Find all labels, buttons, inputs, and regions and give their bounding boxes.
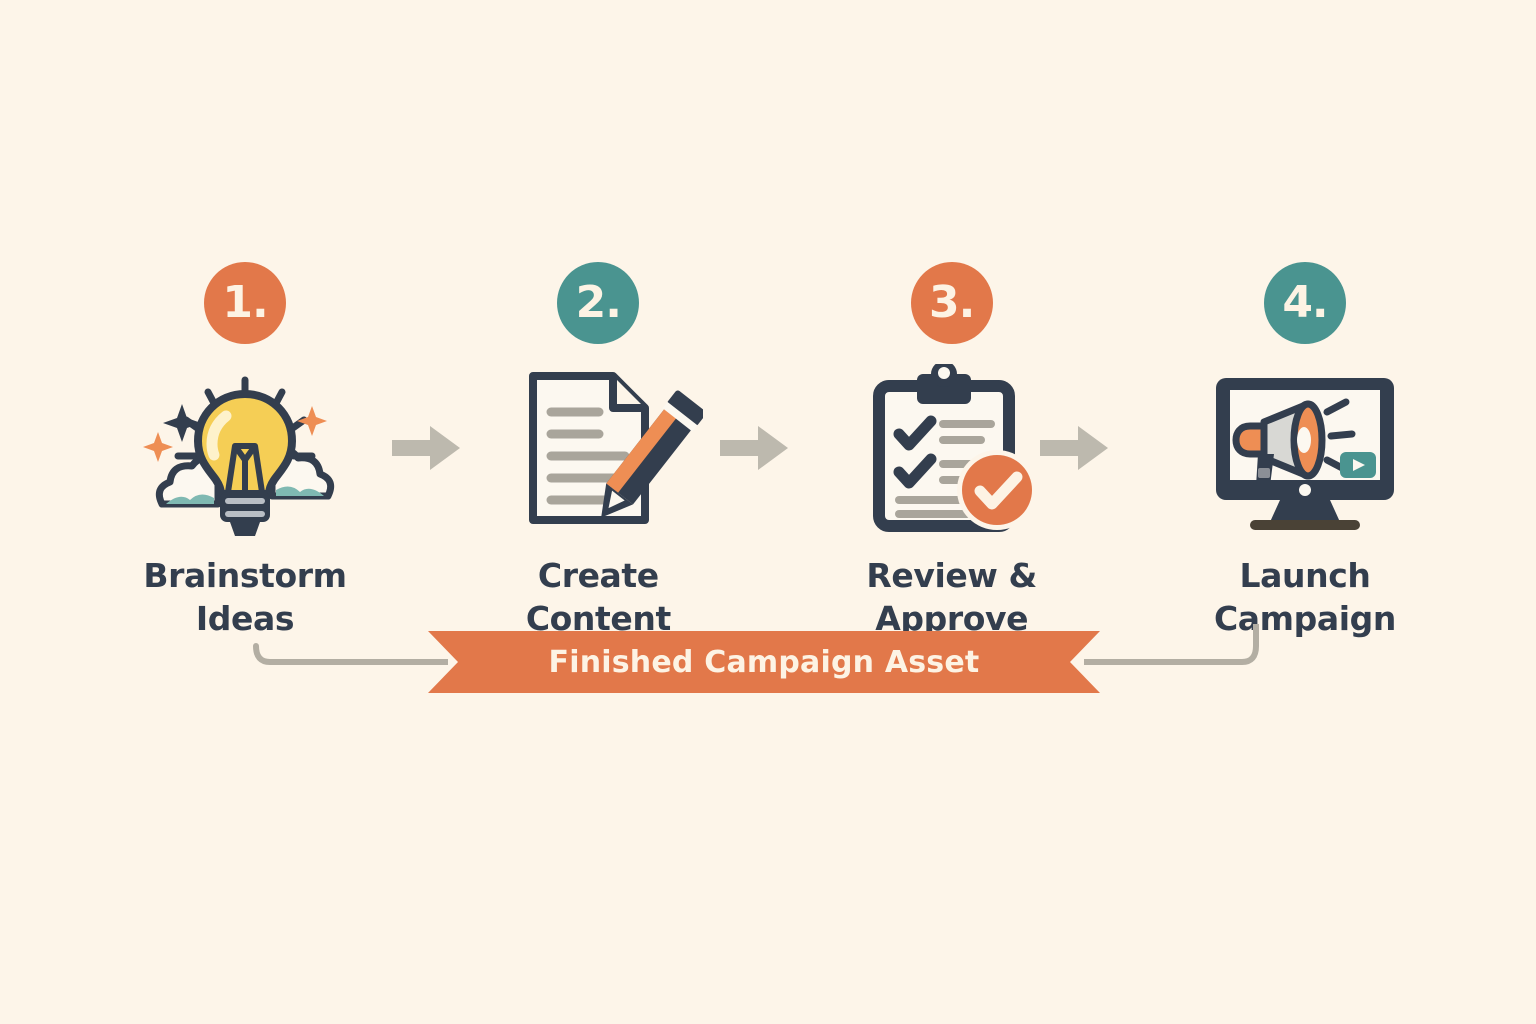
step-number-badge-4: 4.	[1264, 262, 1346, 344]
lightbulb-idea-icon	[140, 364, 350, 539]
document-pencil-icon	[493, 364, 703, 539]
step-number-label-1: 1.	[222, 281, 267, 325]
step-number-badge-3: 3.	[911, 262, 993, 344]
arrow-step1-to-step2	[390, 418, 462, 478]
step-number-badge-1: 1.	[204, 262, 286, 344]
step-number-label-2: 2.	[576, 281, 621, 325]
infographic-canvas: 1.	[0, 0, 1536, 1024]
step-number-badge-2: 2.	[557, 262, 639, 344]
workflow-step-brainstorm-ideas[interactable]: 1.	[120, 262, 370, 641]
workflow-step-launch-campaign[interactable]: 4.	[1180, 262, 1430, 641]
workflow-step-create-content[interactable]: 2.	[473, 262, 723, 641]
outcome-banner-shape	[428, 631, 1100, 693]
arrow-step3-to-step4	[1038, 418, 1110, 478]
connector-line-left	[248, 624, 448, 714]
outcome-banner-group: Finished Campaign Asset	[248, 624, 1258, 714]
step-number-label-4: 4.	[1282, 281, 1327, 325]
step-number-label-3: 3.	[929, 281, 974, 325]
arrow-step2-to-step3	[718, 418, 790, 478]
monitor-megaphone-icon	[1200, 364, 1410, 539]
clipboard-checklist-approved-icon	[847, 364, 1057, 539]
connector-line-right	[1084, 624, 1264, 714]
